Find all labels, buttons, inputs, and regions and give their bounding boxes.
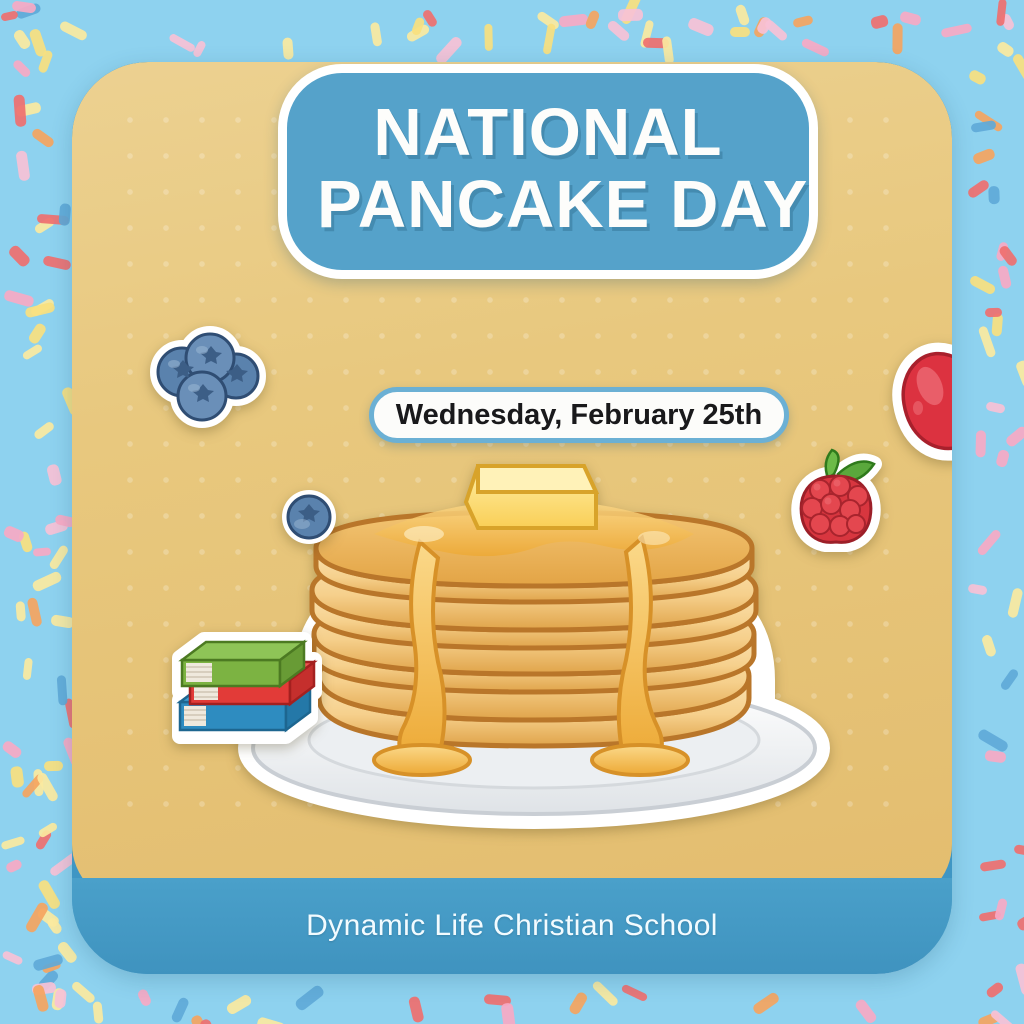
confetti-sprinkle: [26, 597, 43, 627]
confetti-sprinkle: [28, 28, 48, 58]
confetti-sprinkle: [985, 402, 1005, 415]
confetti-sprinkle: [31, 127, 56, 149]
confetti-sprinkle: [32, 420, 55, 440]
confetti-sprinkle: [1015, 912, 1024, 932]
confetti-sprinkle: [58, 20, 89, 42]
books-stack-sticker: [162, 630, 328, 762]
confetti-sprinkle: [568, 991, 589, 1016]
confetti-sprinkle: [1004, 424, 1024, 448]
confetti-sprinkle: [1013, 844, 1024, 857]
confetti-sprinkle: [137, 988, 153, 1008]
confetti-sprinkle: [4, 858, 23, 874]
poster-card: NATIONAL PANCAKE DAY Wednesday, February…: [72, 62, 952, 974]
confetti-sprinkle: [57, 675, 68, 706]
confetti-sprinkle: [1015, 963, 1024, 997]
confetti-sprinkle: [971, 120, 997, 132]
blueberries-sticker: [144, 324, 268, 432]
confetti-sprinkle: [985, 981, 1006, 1000]
confetti-sprinkle: [0, 835, 25, 850]
fork-sticker: [950, 530, 952, 802]
date-text: Wednesday, February 25th: [396, 399, 762, 432]
confetti-sprinkle: [7, 243, 31, 267]
confetti-sprinkle: [256, 1016, 287, 1024]
confetti-sprinkle: [225, 993, 253, 1016]
confetti-sprinkle: [192, 40, 207, 59]
confetti-sprinkle: [800, 38, 830, 58]
confetti-sprinkle: [542, 23, 556, 55]
organization-name: Dynamic Life Christian School: [306, 909, 718, 943]
confetti-sprinkle: [618, 8, 643, 21]
confetti-sprinkle: [45, 917, 63, 937]
confetti-sprinkle: [282, 37, 293, 60]
confetti-sprinkle: [46, 463, 63, 486]
confetti-sprinkle: [16, 601, 26, 621]
title-line-2: PANCAKE DAY: [317, 171, 779, 239]
confetti-sprinkle: [31, 570, 63, 593]
confetti-sprinkle: [408, 995, 425, 1023]
confetti-sprinkle: [980, 859, 1007, 872]
confetti-sprinkle: [44, 761, 63, 771]
confetti-sprinkle: [59, 203, 72, 226]
confetti-sprinkle: [11, 766, 25, 788]
confetti-sprinkle: [967, 583, 988, 596]
confetti-sprinkle: [591, 979, 619, 1006]
confetti-sprinkle: [981, 634, 997, 658]
confetti-sprinkle: [22, 658, 33, 680]
confetti-sprinkle: [171, 996, 191, 1024]
confetti-sprinkle: [985, 750, 1007, 763]
confetti-sprinkle: [621, 983, 649, 1002]
confetti-sprinkle: [1007, 587, 1023, 619]
confetti-sprinkle: [997, 265, 1012, 290]
date-badge: Wednesday, February 25th: [369, 387, 789, 443]
confetti-sprinkle: [752, 991, 781, 1016]
confetti-sprinkle: [995, 449, 1010, 468]
confetti-sprinkle: [1015, 359, 1024, 388]
title-line-1: NATIONAL: [317, 99, 779, 167]
confetti-sprinkle: [941, 23, 974, 38]
confetti-sprinkle: [1, 950, 24, 966]
confetti-sprinkle: [661, 36, 674, 65]
confetti-sprinkle: [42, 255, 72, 271]
confetti-sprinkle: [484, 24, 493, 51]
confetti-sprinkle: [792, 15, 814, 29]
confetti-sprinkle: [3, 289, 35, 307]
confetti-sprinkle: [972, 147, 996, 165]
confetti-sprinkle: [966, 179, 990, 200]
confetti-sprinkle: [93, 1001, 104, 1024]
confetti-sprinkle: [893, 24, 903, 55]
confetti-sprinkle: [49, 544, 70, 571]
raspberry-sticker: [784, 448, 888, 552]
confetti-sprinkle: [899, 10, 922, 26]
confetti-sprinkle: [585, 9, 601, 30]
confetti-sprinkle: [54, 989, 67, 1009]
confetti-sprinkle: [33, 547, 52, 557]
confetti-sprinkle: [686, 17, 714, 38]
confetti-sprinkle: [854, 998, 878, 1024]
confetti-sprinkle: [1011, 52, 1024, 83]
confetti-sprinkle: [730, 27, 750, 37]
confetti-sprinkle: [976, 430, 986, 457]
confetti-sprinkle: [558, 13, 588, 27]
confetti-sprinkle: [2, 524, 25, 542]
confetti-sprinkle: [14, 94, 27, 126]
confetti-sprinkle: [994, 898, 1008, 921]
confetti-sprinkle: [967, 69, 987, 87]
title-banner: NATIONAL PANCAKE DAY: [278, 64, 818, 279]
confetti-sprinkle: [27, 322, 48, 346]
confetti-sprinkle: [734, 3, 750, 26]
confetti-sprinkle: [968, 274, 997, 296]
confetti-sprinkle: [976, 528, 1002, 557]
confetti-sprinkle: [977, 728, 1010, 754]
confetti-sprinkle: [984, 307, 1002, 317]
confetti-sprinkle: [370, 21, 383, 46]
confetti-sprinkle: [988, 186, 999, 205]
footer-band: Dynamic Life Christian School: [72, 878, 952, 974]
confetti-sprinkle: [21, 343, 43, 361]
confetti-sprinkle: [70, 980, 96, 1004]
confetti-sprinkle: [999, 667, 1020, 691]
confetti-sprinkle: [12, 59, 32, 79]
confetti-sprinkle: [15, 150, 30, 181]
confetti-sprinkle: [870, 14, 889, 29]
confetti-sprinkle: [500, 1002, 516, 1024]
confetti-sprinkle: [0, 740, 23, 761]
confetti-sprinkle: [294, 984, 326, 1012]
blueberry-single-sticker: [278, 486, 340, 548]
poster-canvas: NATIONAL PANCAKE DAY Wednesday, February…: [0, 0, 1024, 1024]
apple-sticker: [890, 316, 952, 466]
confetti-sprinkle: [0, 11, 18, 23]
